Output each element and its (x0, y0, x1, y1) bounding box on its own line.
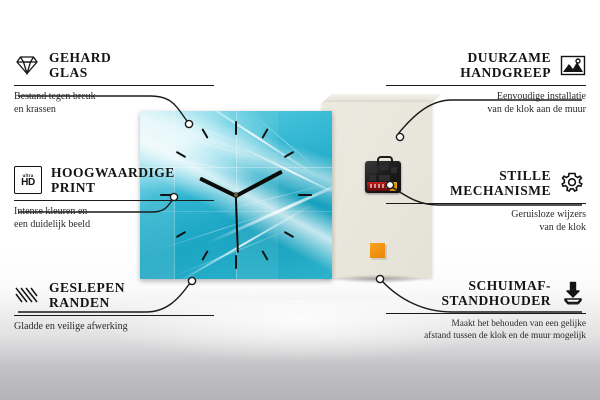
feature-hoogwaardige-print: ultra HD HOOGWAARDIGE PRINT Intense kleu… (14, 165, 214, 231)
feature-stille-mechanisme: STILLE MECHANISME Geruisloze wijzers van… (386, 168, 586, 234)
divider (386, 313, 586, 314)
feature-title-line2: GLAS (49, 65, 88, 80)
feature-title-line1: GESLEPEN (49, 280, 125, 295)
ultra-hd-icon-large-text: HD (21, 178, 35, 188)
divider (14, 200, 214, 201)
feature-title-line2: HANDGREEP (460, 65, 551, 80)
feature-description: Bestand tegen breuk en krassen (14, 91, 214, 116)
feature-title-line1: SCHUIMAF- (469, 278, 552, 293)
feature-title-line2: PRINT (51, 180, 96, 195)
diamond-icon (14, 52, 40, 78)
ultra-hd-icon: ultra HD (14, 166, 42, 194)
feature-duurzame-handgreep: DUURZAME HANDGREEP Eenvoudige installati… (386, 50, 586, 116)
infographic-canvas: + (0, 0, 600, 400)
feature-gehard-glas: GEHARD GLAS Bestand tegen breuk en krass… (14, 50, 214, 116)
picture-frame-icon (560, 52, 586, 78)
feature-title-line1: STILLE (499, 168, 551, 183)
spacer-arrow-icon (560, 280, 586, 306)
feature-description: Intense kleuren en een duidelijk beeld (14, 206, 214, 231)
divider (14, 315, 214, 316)
divider (14, 85, 214, 86)
feature-title-line2: RANDEN (49, 295, 110, 310)
foam-spacer (370, 243, 385, 258)
feature-schuimafstandhouder: SCHUIMAF- STANDHOUDER Maakt het behouden… (386, 278, 586, 342)
feature-title-line2: MECHANISME (450, 183, 551, 198)
divider (386, 85, 586, 86)
diagonal-lines-icon (14, 282, 40, 308)
feature-description: Gladde en veilige afwerking (14, 321, 214, 334)
feature-title-line2: STANDHOUDER (441, 293, 551, 308)
feature-description: Eenvoudige installatie van de klok aan d… (386, 91, 586, 116)
feature-geslepen-randen: GESLEPEN RANDEN Gladde en veilige afwerk… (14, 280, 214, 334)
gear-icon (560, 170, 586, 196)
feature-title-line1: DUURZAME (468, 50, 552, 65)
feature-description: Maakt het behouden van een gelijke afsta… (386, 319, 586, 342)
feature-description: Geruisloze wijzers van de klok (386, 209, 586, 234)
divider (386, 203, 586, 204)
feature-title-line1: HOOGWAARDIGE (51, 165, 175, 180)
feature-title-line1: GEHARD (49, 50, 111, 65)
